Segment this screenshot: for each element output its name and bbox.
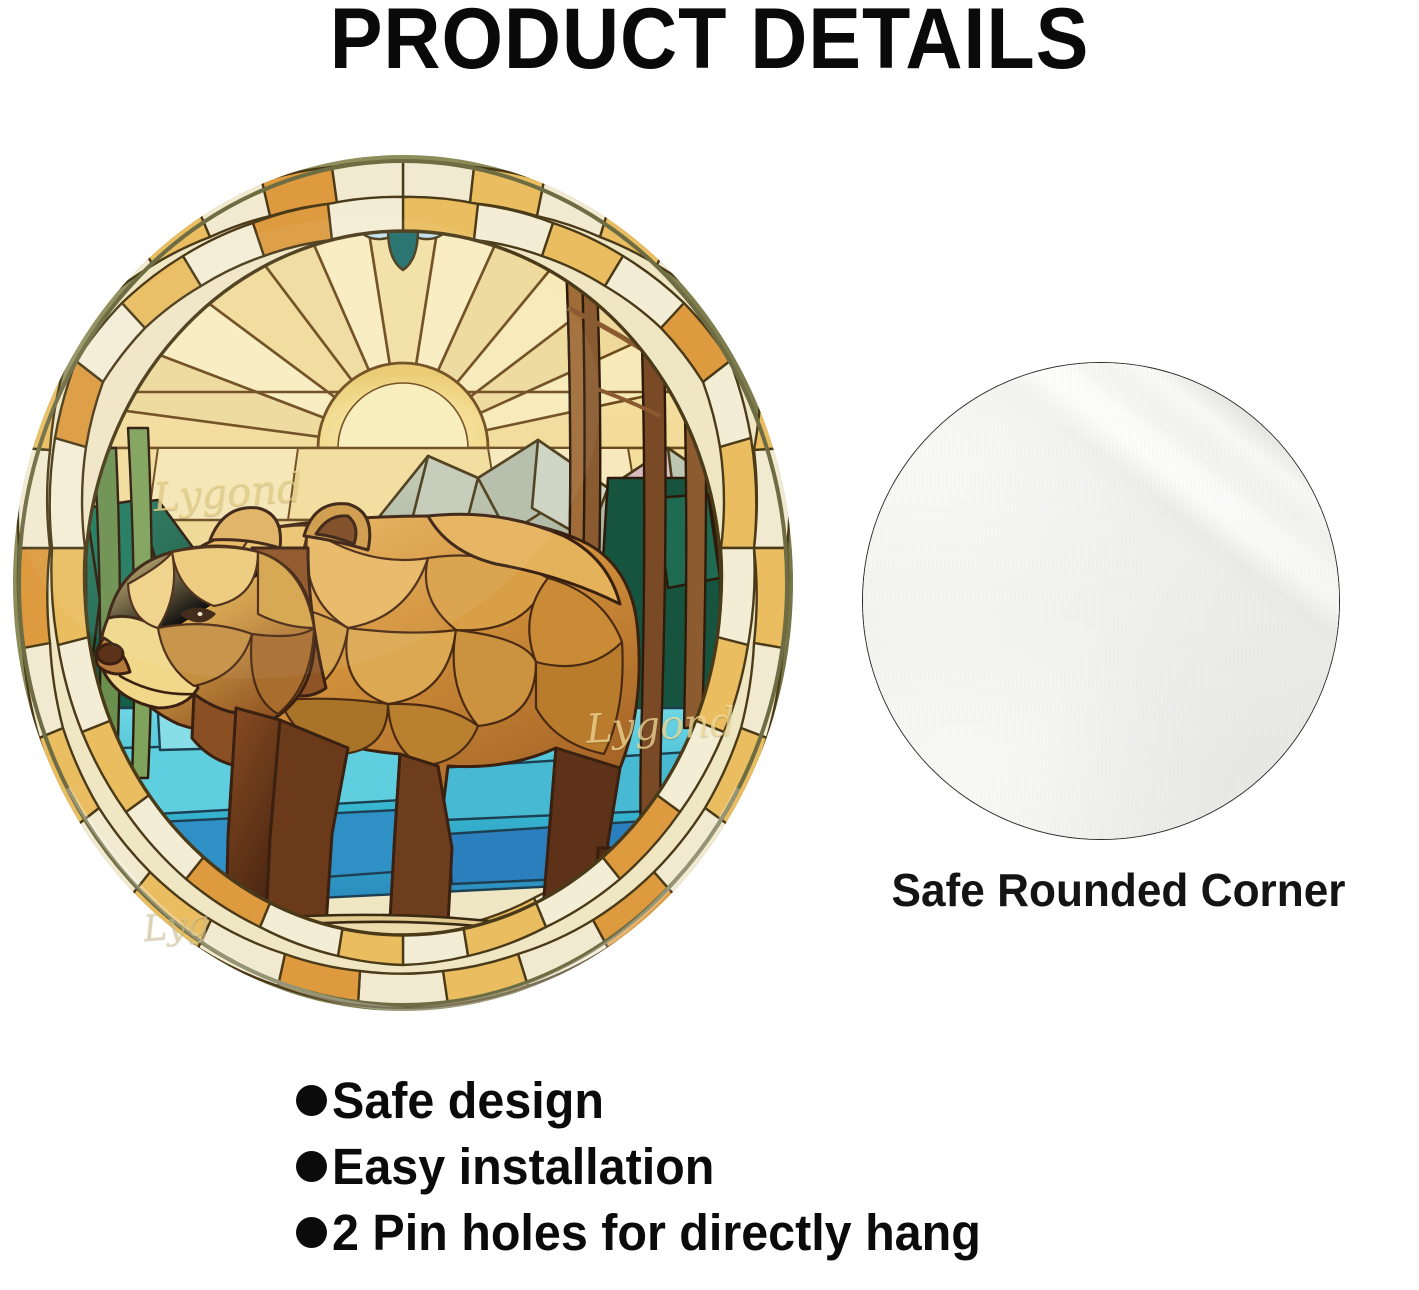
list-item: Safe design xyxy=(296,1067,1356,1133)
product-image-stained-glass-bear[interactable]: Lygond Lygond Lyg xyxy=(8,148,798,1018)
rounded-corner-caption: Safe Rounded Corner xyxy=(830,863,1407,917)
feature-list: Safe design Easy installation 2 Pin hole… xyxy=(296,1067,1356,1265)
corner-texture xyxy=(863,363,1339,839)
list-item: Easy installation xyxy=(296,1133,1356,1199)
bullet-icon xyxy=(296,1085,327,1116)
product-details-page: PRODUCT DETAILS xyxy=(0,0,1419,1290)
stained-glass-disc xyxy=(8,148,798,1018)
feature-label: 2 Pin holes for directly hang xyxy=(332,1207,981,1258)
rounded-corner-detail[interactable] xyxy=(862,362,1340,840)
bullet-icon xyxy=(296,1217,327,1248)
rounded-corner-macro-photo xyxy=(862,362,1340,840)
feature-label: Easy installation xyxy=(332,1141,714,1192)
feature-label: Safe design xyxy=(332,1075,604,1126)
bullet-icon xyxy=(296,1151,327,1182)
list-item: 2 Pin holes for directly hang xyxy=(296,1199,1356,1265)
page-title: PRODUCT DETAILS xyxy=(57,0,1362,82)
